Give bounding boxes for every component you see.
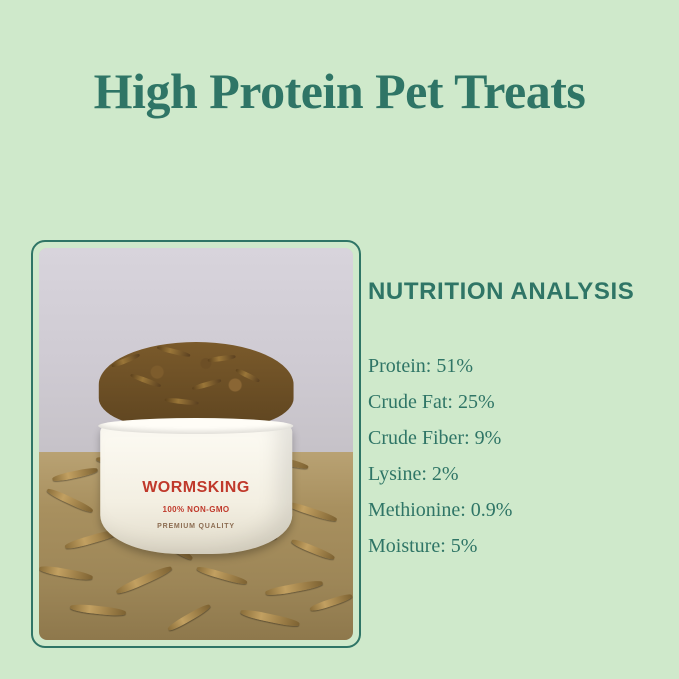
product-photo: WORMSKING 100% NON-GMO PREMIUM QUALITY — [39, 248, 353, 640]
product-photo-frame: WORMSKING 100% NON-GMO PREMIUM QUALITY — [31, 240, 361, 648]
list-item: Methionine: 0.9% — [368, 492, 658, 528]
nutrition-analysis-heading: NUTRITION ANALYSIS — [368, 278, 634, 306]
list-item: Moisture: 5% — [368, 528, 658, 564]
list-item: Crude Fat: 25% — [368, 384, 658, 420]
list-item: Lysine: 2% — [368, 456, 658, 492]
bowl-non-gmo-text: 100% NON-GMO — [100, 505, 292, 514]
list-item: Protein: 51% — [368, 348, 658, 384]
bowl-premium-quality-text: PREMIUM QUALITY — [100, 523, 292, 530]
mealworm-pile — [99, 342, 294, 428]
bowl-rim — [98, 418, 293, 434]
bowl-brand-text: WORMSKING — [100, 479, 292, 497]
product-poster: High Protein Pet Treats — [0, 0, 679, 679]
list-item: Crude Fiber: 9% — [368, 420, 658, 456]
page-title: High Protein Pet Treats — [0, 62, 679, 120]
product-bowl: WORMSKING 100% NON-GMO PREMIUM QUALITY — [100, 424, 292, 553]
nutrition-analysis-list: Protein: 51% Crude Fat: 25% Crude Fiber:… — [368, 348, 658, 564]
